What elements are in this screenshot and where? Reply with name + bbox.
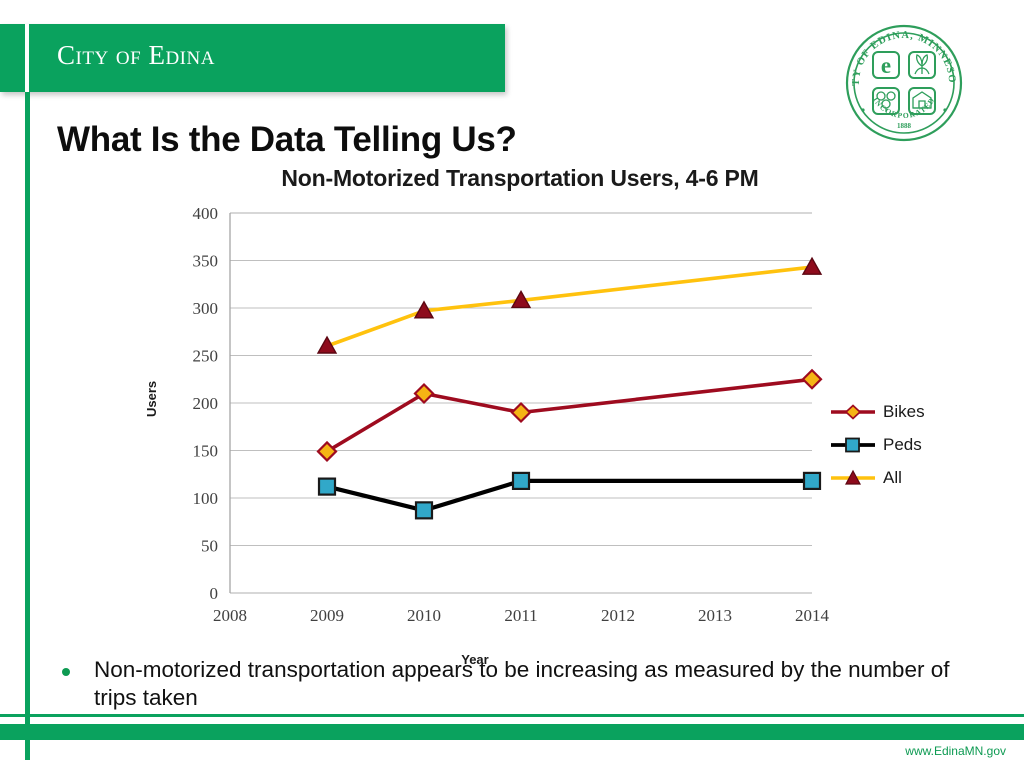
brand-title: City of Edina (57, 40, 215, 71)
data-point-peds (513, 473, 529, 489)
bullet-text: Non-motorized transportation appears to … (94, 656, 992, 712)
y-tick-label: 150 (193, 442, 219, 461)
data-point-peds (319, 479, 335, 495)
data-point-bikes (512, 404, 530, 422)
data-point-peds (804, 473, 820, 489)
footer-thick-rule (0, 724, 1024, 740)
y-tick-label: 100 (193, 489, 219, 508)
chart-legend: Bikes Peds All (830, 395, 980, 494)
legend-swatch-peds (830, 435, 876, 455)
y-tick-label: 250 (193, 347, 219, 366)
legend-label-peds: Peds (883, 435, 922, 455)
svg-text:1888: 1888 (897, 122, 912, 130)
data-point-bikes (803, 370, 821, 388)
legend-label-all: All (883, 468, 902, 488)
x-tick-label: 2011 (504, 606, 537, 625)
y-tick-label: 50 (201, 537, 218, 556)
bullet-dot-icon (62, 668, 70, 676)
chart-container: Non-Motorized Transportation Users, 4-6 … (150, 165, 890, 665)
slide-canvas: City of Edina CITY OF EDINA, MINNESOTA I… (0, 0, 1024, 770)
y-tick-label: 200 (193, 394, 219, 413)
chart-title: Non-Motorized Transportation Users, 4-6 … (150, 165, 890, 192)
header-band-divider (25, 24, 29, 92)
series-line-all (327, 267, 812, 346)
legend-swatch-bikes (830, 402, 876, 422)
x-tick-label: 2014 (795, 606, 830, 625)
list-item: Non-motorized transportation appears to … (62, 656, 992, 712)
y-tick-label: 300 (193, 299, 219, 318)
x-tick-label: 2013 (698, 606, 732, 625)
y-tick-label: 350 (193, 252, 219, 271)
x-tick-label: 2012 (601, 606, 635, 625)
legend-swatch-all (830, 468, 876, 488)
footer-url: www.EdinaMN.gov (905, 744, 1006, 758)
y-tick-label: 0 (210, 584, 219, 603)
series-line-peds (327, 481, 812, 511)
legend-label-bikes: Bikes (883, 402, 925, 422)
legend-item-all: All (830, 461, 980, 494)
x-tick-label: 2008 (213, 606, 247, 625)
svg-text:e: e (881, 53, 891, 78)
x-tick-label: 2009 (310, 606, 344, 625)
footer-thin-rule (0, 714, 1024, 717)
legend-item-peds: Peds (830, 428, 980, 461)
data-point-bikes (415, 385, 433, 403)
svg-text:CITY OF EDINA, MINNESOTA: CITY OF EDINA, MINNESOTA (843, 22, 957, 86)
line-chart-plot: 0501001502002503003504002008200920102011… (150, 201, 830, 651)
y-tick-label: 400 (193, 204, 219, 223)
series-line-bikes (327, 379, 812, 451)
bullet-list: Non-motorized transportation appears to … (62, 656, 992, 712)
city-seal-logo: CITY OF EDINA, MINNESOTA INCORPORATED 18… (843, 22, 965, 144)
left-vertical-rule (25, 92, 30, 760)
x-tick-label: 2010 (407, 606, 441, 625)
legend-item-bikes: Bikes (830, 395, 980, 428)
data-point-bikes (318, 442, 336, 460)
page-title: What Is the Data Telling Us? (57, 120, 517, 160)
data-point-peds (416, 502, 432, 518)
